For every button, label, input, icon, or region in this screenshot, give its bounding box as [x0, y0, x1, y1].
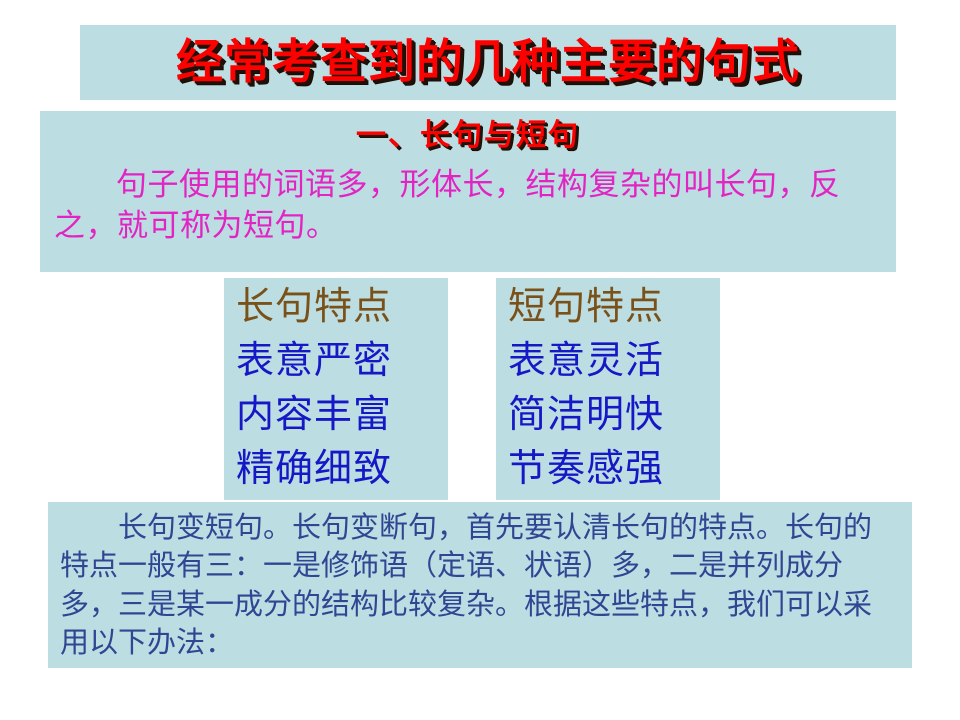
explanation-panel: 长句变短句。长句变断句，首先要认清长句的特点。长句的特点一般有三：一是修饰语（定… [48, 502, 912, 668]
slide-title: 经常考查到的几种主要的句式 [176, 39, 800, 86]
title-panel: 经常考查到的几种主要的句式 [80, 25, 896, 100]
section-heading: 一、长句与短句 [54, 117, 882, 155]
long-sentence-column: 长句特点 表意严密 内容丰富 精确细致 [224, 278, 448, 500]
long-sentence-feature-1: 表意严密 [236, 334, 448, 388]
explanation-paragraph: 长句变短句。长句变断句，首先要认清长句的特点。长句的特点一般有三：一是修饰语（定… [60, 508, 900, 661]
long-sentence-feature-2: 内容丰富 [236, 388, 448, 442]
short-sentence-column: 短句特点 表意灵活 简洁明快 节奏感强 [496, 278, 720, 500]
long-sentence-column-header: 长句特点 [236, 280, 448, 334]
short-sentence-feature-3: 节奏感强 [508, 442, 720, 496]
presentation-slide: 经常考查到的几种主要的句式 一、长句与短句 句子使用的词语多，形体长，结构复杂的… [0, 0, 960, 720]
definition-paragraph: 句子使用的词语多，形体长，结构复杂的叫长句，反之，就可称为短句。 [54, 165, 882, 247]
short-sentence-feature-1: 表意灵活 [508, 334, 720, 388]
definition-panel: 一、长句与短句 句子使用的词语多，形体长，结构复杂的叫长句，反之，就可称为短句。 [40, 111, 896, 272]
short-sentence-feature-2: 简洁明快 [508, 388, 720, 442]
long-sentence-column-content: 长句特点 表意严密 内容丰富 精确细致 [224, 278, 448, 496]
short-sentence-column-content: 短句特点 表意灵活 简洁明快 节奏感强 [496, 278, 720, 496]
long-sentence-feature-3: 精确细致 [236, 442, 448, 496]
short-sentence-column-header: 短句特点 [508, 280, 720, 334]
